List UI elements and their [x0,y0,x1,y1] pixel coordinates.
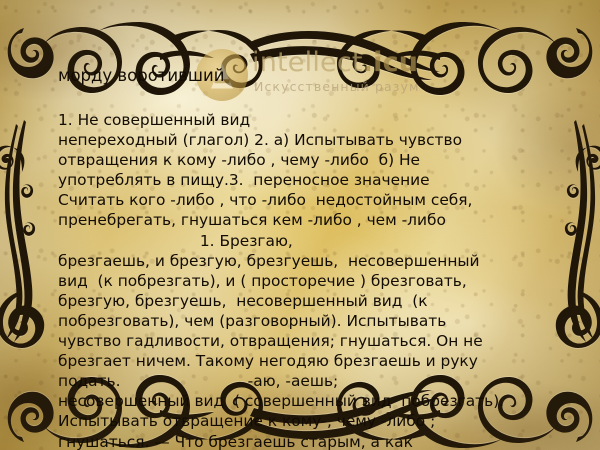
body-line: подать. -аю, -аешь; [58,371,558,391]
body-line: Испытывать отвращение к кому-, чему -либ… [58,411,558,431]
watermark-title: intellect.icu [252,47,418,78]
slide-canvas: intellect.icu Искусственный разум морду … [0,0,600,450]
body-line: непереходный (глагол) 2. а) Испытывать ч… [58,130,558,150]
body-line: пренебрегать, гнушаться кем -либо , чем … [58,210,558,230]
body-line: чувство гадливости, отвращения; гнушатьс… [58,331,558,351]
page-title: морду воротивший [58,66,224,85]
body-line: побрезговать), чем (разговорный). Испыты… [58,311,558,331]
body-line: гнушаться. — Что брезгаешь старым, а как [58,432,558,450]
body-line: 1. Брезгаю, [58,231,558,251]
body-line: брезгаешь, и брезгую, брезгуешь, несовер… [58,251,558,271]
body-line: 1. Не совершенный вид [58,110,558,130]
body-line: несовершенный вид ( совершенный вид побр… [58,391,558,411]
body-line: вид (к побрезгать), и ( просторечие ) бр… [58,271,558,291]
body-line: употреблять в пищу.3. переносное значени… [58,170,558,190]
watermark: intellect.icu Искусственный разум [196,47,436,105]
body-line: отвращения к кому -либо , чему -либо б) … [58,150,558,170]
ornamental-border-top-icon [0,14,600,112]
body-line: Считать кого -либо , что -либо недостойн… [58,190,558,210]
definition-body: 1. Не совершенный вид непереходный (глаг… [58,110,558,450]
body-line: брезгает ничем. Такому негодяю брезгаешь… [58,351,558,371]
ornamental-border-left-icon [0,120,66,350]
watermark-title-bold: .icu [363,47,419,78]
watermark-subtitle: Искусственный разум [254,79,420,94]
body-line: брезгую, брезгуешь, несовершенный вид (к [58,291,558,311]
watermark-title-light: intellect [252,47,363,78]
